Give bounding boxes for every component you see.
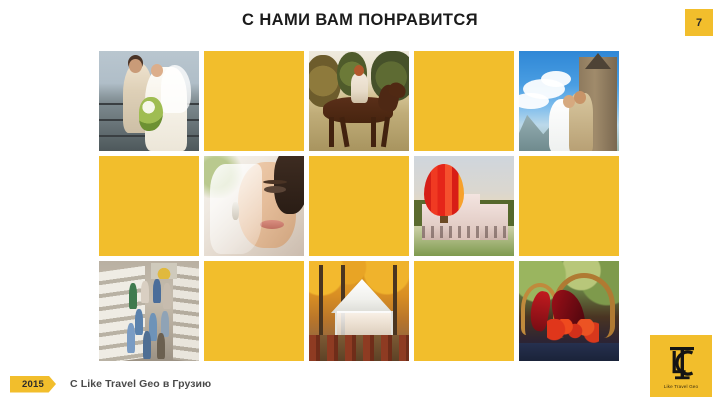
blank-tile-yellow xyxy=(204,261,304,361)
photo-bride-portrait-scene xyxy=(204,156,304,256)
page-number-label: 7 xyxy=(696,17,702,29)
year-badge: 2015 xyxy=(10,376,56,393)
scene-part xyxy=(135,309,143,335)
scene-part xyxy=(547,319,599,345)
photo-couple-mountain-church xyxy=(519,51,619,151)
blank-tile-yellow xyxy=(414,51,514,151)
scene-part xyxy=(157,333,165,359)
photo-wedding-couple-terrace-scene xyxy=(99,51,199,151)
page-number-badge: 7 xyxy=(685,9,713,36)
scene-part xyxy=(263,180,287,184)
photo-ceremony-guests-scene xyxy=(99,261,199,361)
photo-horse-rider-scene xyxy=(309,51,409,151)
blank-tile-yellow xyxy=(519,156,619,256)
photo-horse-rider xyxy=(309,51,409,151)
lt-monogram-icon xyxy=(661,343,701,383)
scene-part xyxy=(151,263,177,279)
scene-part xyxy=(541,71,571,87)
scene-part xyxy=(309,335,409,361)
scene-part xyxy=(351,73,368,103)
scene-part xyxy=(173,265,199,361)
scene-part xyxy=(127,323,135,353)
photo-couple-mountain-church-scene xyxy=(519,51,619,151)
scene-part xyxy=(422,226,508,238)
scene-part xyxy=(129,283,137,309)
scene-part xyxy=(319,265,323,337)
scene-part xyxy=(151,64,163,77)
scene-part xyxy=(519,343,619,361)
scene-part xyxy=(143,331,151,359)
photo-wine-pouring xyxy=(519,261,619,361)
photo-hot-air-balloon-palace xyxy=(414,156,514,256)
photo-bride-portrait xyxy=(204,156,304,256)
scene-part xyxy=(574,91,586,104)
photo-autumn-gazebo xyxy=(309,261,409,361)
company-logo: Like Travel Geo xyxy=(650,335,712,397)
blank-tile-yellow xyxy=(99,156,199,256)
footer-caption: С Like Travel Geo в Грузию xyxy=(70,378,211,390)
scene-part xyxy=(393,265,397,337)
scene-part xyxy=(414,240,514,256)
scene-part xyxy=(424,164,464,216)
scene-part xyxy=(260,220,284,229)
scene-part xyxy=(264,186,286,193)
scene-part xyxy=(519,93,549,109)
scene-part xyxy=(141,281,149,303)
scene-part xyxy=(354,65,364,76)
photo-ceremony-guests xyxy=(99,261,199,361)
scene-part xyxy=(161,65,191,113)
photo-hot-air-balloon-palace-scene xyxy=(414,156,514,256)
blank-tile-yellow xyxy=(204,51,304,151)
scene-part xyxy=(163,283,171,309)
photo-wine-pouring-scene xyxy=(519,261,619,361)
page-title: С НАМИ ВАМ ПОНРАВИТСЯ xyxy=(0,11,720,30)
scene-part xyxy=(153,279,161,303)
photo-grid xyxy=(99,51,621,361)
blank-tile-yellow xyxy=(414,261,514,361)
year-label: 2015 xyxy=(22,379,44,390)
scene-part xyxy=(371,117,376,147)
logo-caption: Like Travel Geo xyxy=(664,384,698,389)
photo-autumn-gazebo-scene xyxy=(309,261,409,361)
footer: 2015 С Like Travel Geo в Грузию xyxy=(0,373,720,395)
blank-tile-yellow xyxy=(309,156,409,256)
scene-part xyxy=(232,202,239,220)
scene-part xyxy=(129,59,142,73)
photo-wedding-couple-terrace xyxy=(99,51,199,151)
scene-part xyxy=(329,117,334,147)
scene-part xyxy=(440,216,448,223)
scene-part xyxy=(274,156,304,214)
